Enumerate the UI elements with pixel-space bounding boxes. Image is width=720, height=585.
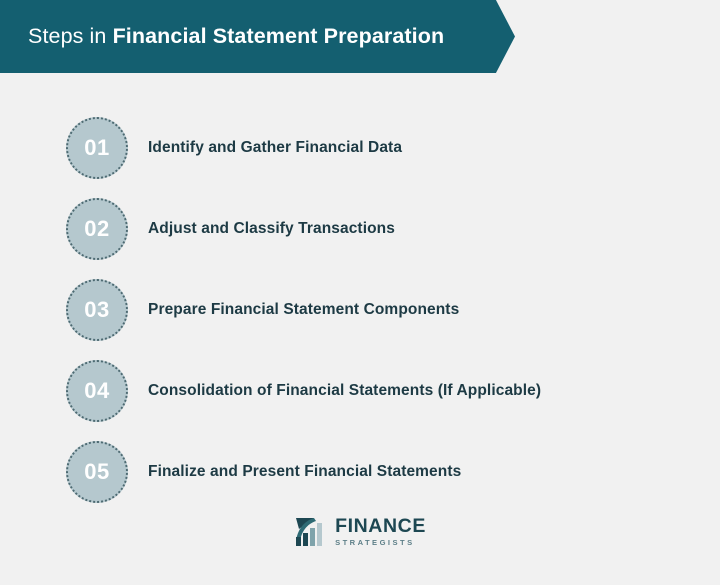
step-number: 02 bbox=[84, 216, 109, 242]
step-number-badge: 04 bbox=[66, 360, 128, 422]
brand-name-secondary: STRATEGISTS bbox=[335, 539, 426, 547]
step-number: 05 bbox=[84, 459, 109, 485]
header-banner: Steps in Financial Statement Preparation bbox=[0, 0, 515, 73]
step-number-badge: 01 bbox=[66, 117, 128, 179]
step-number-badge: 02 bbox=[66, 198, 128, 260]
step-label: Finalize and Present Financial Statement… bbox=[148, 463, 461, 481]
page-title: Steps in Financial Statement Preparation bbox=[0, 26, 444, 48]
list-item: 01 Identify and Gather Financial Data bbox=[0, 107, 720, 188]
list-item: 03 Prepare Financial Statement Component… bbox=[0, 269, 720, 350]
list-item: 02 Adjust and Classify Transactions bbox=[0, 188, 720, 269]
step-label: Consolidation of Financial Statements (I… bbox=[148, 382, 541, 400]
step-label: Prepare Financial Statement Components bbox=[148, 301, 459, 319]
list-item: 05 Finalize and Present Financial Statem… bbox=[0, 431, 720, 512]
step-number: 03 bbox=[84, 297, 109, 323]
page-title-strong: Financial Statement Preparation bbox=[113, 24, 445, 48]
brand-logo-text: FINANCE STRATEGISTS bbox=[335, 517, 426, 546]
step-number: 04 bbox=[84, 378, 109, 404]
bar-chart-arrow-icon bbox=[294, 516, 328, 548]
header-banner-shape: Steps in Financial Statement Preparation bbox=[0, 0, 515, 73]
step-number-badge: 03 bbox=[66, 279, 128, 341]
step-label: Adjust and Classify Transactions bbox=[148, 220, 395, 238]
step-label: Identify and Gather Financial Data bbox=[148, 139, 402, 157]
step-number: 01 bbox=[84, 135, 109, 161]
brand-name-primary: FINANCE bbox=[335, 517, 426, 537]
steps-list: 01 Identify and Gather Financial Data 02… bbox=[0, 107, 720, 512]
step-number-badge: 05 bbox=[66, 441, 128, 503]
brand-logo: FINANCE STRATEGISTS bbox=[0, 516, 720, 548]
page-title-prefix: Steps in bbox=[28, 24, 113, 48]
list-item: 04 Consolidation of Financial Statements… bbox=[0, 350, 720, 431]
